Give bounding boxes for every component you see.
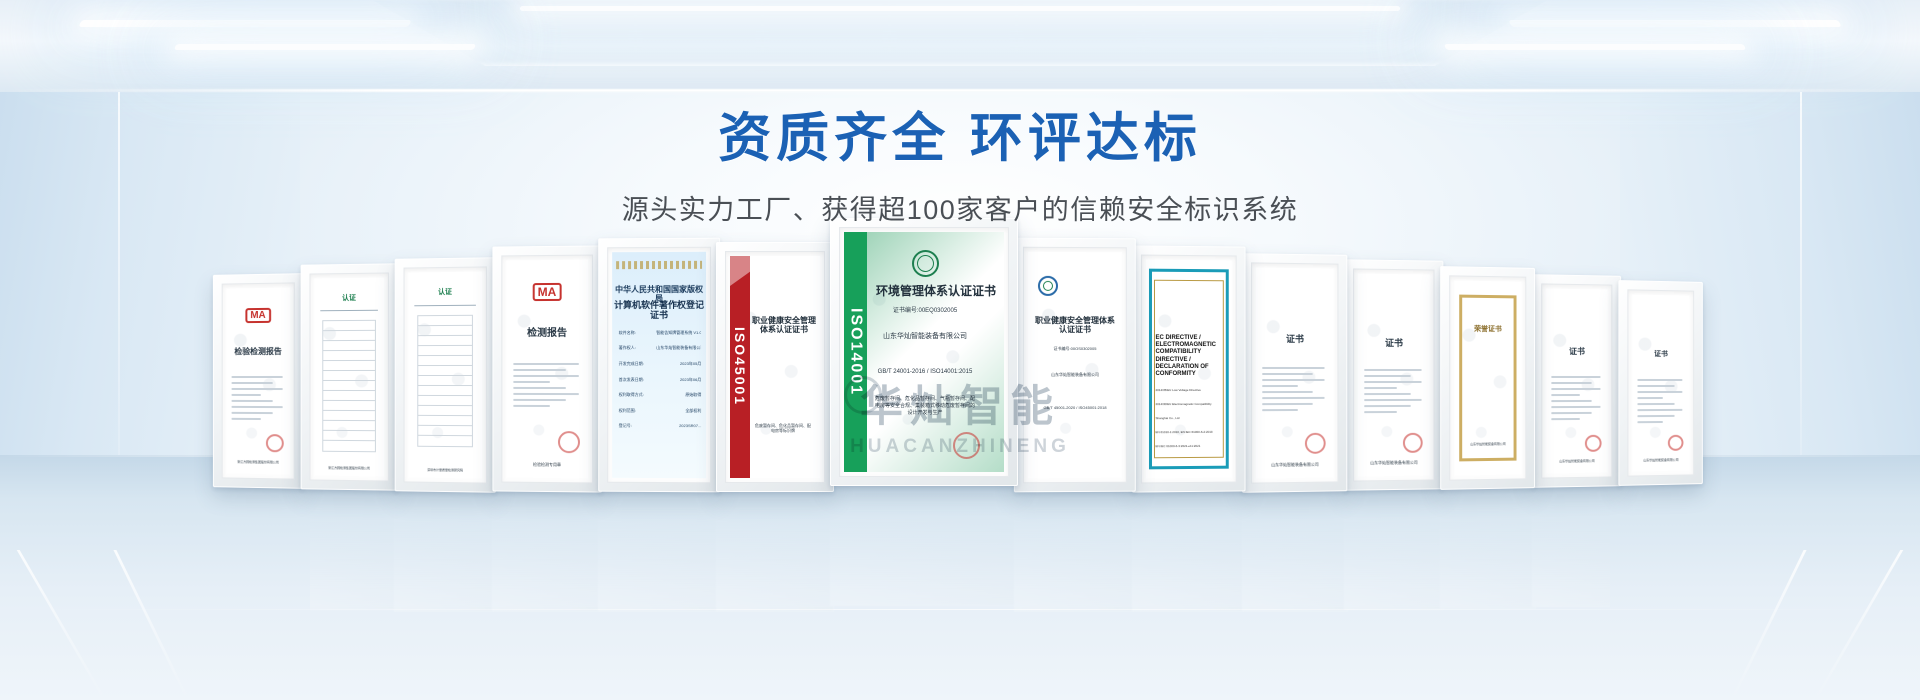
certificate-mat: MA检验检测报告浙江方圆检测集团股份有限公司 <box>222 282 295 479</box>
report-table-row <box>418 326 472 336</box>
body-line <box>513 387 567 389</box>
certificate-cert-no: 证书编号:00EQ0302005 <box>844 307 1004 315</box>
certificate-footer: 山东华灿智能装备有限公司 <box>1256 461 1333 467</box>
report-table-row <box>418 386 472 396</box>
certificate-paper: MA检测报告检验检测专用章 <box>506 260 588 479</box>
certificate-mat: 认证深圳市计量质量检测研究院 <box>404 266 487 483</box>
certificate-frame-honor-cert-4[interactable]: 证书山东华灿智能装备有限公司 <box>1618 280 1702 486</box>
body-line <box>1262 391 1313 393</box>
certificate-mat: 职业健康安全管理体系认证证书证书编号:00OS0302005山东华灿智能装备有限… <box>1023 247 1127 484</box>
certificate-frame-ce-emc-directive[interactable]: EC DIRECTIVE / ELECTROMAGNETIC COMPATIBI… <box>1132 245 1246 492</box>
floor-band <box>0 609 1920 610</box>
certificate-footer: 山东华灿智能装备有限公司 <box>1358 459 1430 465</box>
certificate-paper: ISO14001环境管理体系认证证书证书编号:00EQ0302005山东华灿智能… <box>844 232 1004 472</box>
certificate-company: 山东华灿智能装备有限公司 <box>844 332 1004 341</box>
body-line <box>1262 379 1325 381</box>
body-line <box>1364 375 1411 377</box>
certificate-mat: 中华人民共和国国家版权局计算机软件著作权登记证书软件名称:智能告知牌管理系统 V… <box>607 247 711 484</box>
certificate-body-lines <box>232 376 285 424</box>
body-line <box>1637 415 1674 417</box>
certificate-footer: 浙江方圆检测集团股份有限公司 <box>314 466 384 471</box>
report-table-row <box>324 371 375 381</box>
iso-side-band: ISO14001 <box>844 232 867 472</box>
accreditation-badge-icon: MA <box>245 308 270 323</box>
body-line <box>1262 403 1313 405</box>
report-table-row <box>418 366 472 376</box>
body-line <box>1637 385 1674 387</box>
red-seal-stamp <box>558 431 580 453</box>
certificate-frame-inspection-report-1[interactable]: 认证浙江方圆检测集团股份有限公司 <box>301 263 398 490</box>
certificate-paper: 证书山东华灿智能装备有限公司 <box>1632 294 1689 471</box>
certification-body-logo-icon <box>912 250 939 277</box>
certificate-title: 检测报告 <box>506 328 588 340</box>
certificate-mat: 荣誉证书山东华灿智能装备有限公司 <box>1449 275 1526 480</box>
certificate-mat: 证书山东华灿智能装备有限公司 <box>1251 262 1338 483</box>
certificate-body-lines <box>1551 376 1602 424</box>
certificate-field-value: 2023年06月 <box>680 377 701 383</box>
certificate-paper: MA检验检测报告浙江方圆检测集团股份有限公司 <box>227 287 290 474</box>
accreditation-badge-icon: MA <box>533 283 562 301</box>
report-table-row <box>324 421 375 431</box>
body-line <box>1551 418 1579 420</box>
certificate-frame-iso14001[interactable]: ISO14001环境管理体系认证证书证书编号:00EQ0302005山东华灿智能… <box>830 218 1018 486</box>
certificate-paper: 职业健康安全管理体系认证证书证书编号:00OS0302005山东华灿智能装备有限… <box>1028 252 1122 478</box>
certificate-body-lines <box>513 363 582 411</box>
certificate-field-value: 全部权利 <box>685 408 701 414</box>
certificate-field-value: 山东华灿智能装备有限公司 <box>656 345 701 351</box>
certificate-standard: GB/T 45001-2020 / ISO45001:2018 <box>1028 405 1122 411</box>
ornamental-border <box>616 261 702 269</box>
certificate-scope: 危废暂存间、危化品暂存间、气瓶暂存间、配电房等安全合规、集装箱式移动危废暂存间的… <box>844 396 1004 416</box>
certificate-company: 山东华灿智能装备有限公司 <box>1028 372 1122 377</box>
certificate-title: 环境管理体系认证证书 <box>844 285 1004 299</box>
certificate-field-value: 原始取得 <box>685 392 701 398</box>
header-divider <box>320 310 378 311</box>
report-table-row <box>324 351 375 361</box>
body-line <box>1551 388 1600 390</box>
certificate-footer: 山东华灿智能装备有限公司 <box>1546 459 1607 464</box>
certificate-title: 证书 <box>1546 347 1607 356</box>
report-table-row <box>324 411 375 421</box>
body-line <box>232 400 273 402</box>
body-line <box>232 382 273 384</box>
certification-body-logo-icon <box>1038 276 1058 296</box>
certificate-field-label: 权利取得方式: <box>619 392 644 398</box>
body-line <box>513 405 551 407</box>
report-table-row <box>324 441 375 451</box>
certificate-frame-cma-zhejiang[interactable]: MA检验检测报告浙江方圆检测集团股份有限公司 <box>213 273 304 489</box>
certificate-frame-honor-cert-1[interactable]: 证书山东华灿智能装备有限公司 <box>1242 253 1347 493</box>
certificate-gallery: MA检验检测报告浙江方圆检测集团股份有限公司认证浙江方圆检测集团股份有限公司认证… <box>310 232 1610 492</box>
certificate-standard: GB/T 24001-2016 / ISO14001:2015 <box>844 368 1004 376</box>
body-line <box>1551 394 1579 396</box>
certificate-title: 证书 <box>1358 338 1430 349</box>
certificate-frame-honor-cert-gold[interactable]: 荣誉证书山东华灿智能装备有限公司 <box>1440 266 1535 490</box>
certificate-mat: 证书山东华灿智能装备有限公司 <box>1353 268 1434 481</box>
certificate-title: EC DIRECTIVE / ELECTROMAGNETIC COMPATIBI… <box>1155 335 1222 378</box>
body-line <box>232 388 283 390</box>
certificate-paper: EC DIRECTIVE / ELECTROMAGNETIC COMPATIBI… <box>1146 260 1232 479</box>
iso-side-label: ISO45001 <box>732 327 748 406</box>
certificate-mat: ISO14001环境管理体系认证证书证书编号:00EQ0302005山东华灿智能… <box>839 227 1009 477</box>
body-line <box>1364 393 1411 395</box>
iso-side-label: ISO14001 <box>847 308 865 396</box>
banner-headings: 资质齐全 环评达标 源头实力工厂、获得超100家客户的信赖安全标识系统 <box>0 0 1920 227</box>
certificate-field-label: 权利范围: <box>619 408 636 414</box>
certificate-detail-line: Shanghai Co., Ltd <box>1155 416 1222 420</box>
body-line <box>1637 409 1683 411</box>
body-line <box>513 393 579 395</box>
certificate-frame-honor-cert-2[interactable]: 证书山东华灿智能装备有限公司 <box>1344 259 1443 490</box>
report-table-row <box>324 321 375 331</box>
certificate-field-label: 著作权人: <box>619 345 636 351</box>
body-line <box>1262 367 1325 369</box>
certificate-title: 职业健康安全管理体系认证证书 <box>730 316 820 334</box>
certificate-frame-inspection-report-2[interactable]: 认证深圳市计量质量检测研究院 <box>395 257 496 493</box>
certificate-scope: 危废暂存间、危化品暂存间、配电房等标识牌 <box>730 423 820 434</box>
report-table-row <box>418 336 472 346</box>
red-seal-stamp <box>1585 435 1602 452</box>
report-table-row <box>324 391 375 401</box>
body-line <box>513 399 567 401</box>
certificate-field-label: 软件名称: <box>619 330 636 336</box>
page-title: 资质齐全 环评达标 <box>0 96 1920 172</box>
body-line <box>1364 405 1411 407</box>
certificate-mat: MA检测报告检验检测专用章 <box>501 255 593 484</box>
report-table-row <box>418 436 472 446</box>
floor-light-ray-1 <box>17 550 107 700</box>
body-line <box>1262 397 1325 399</box>
body-line <box>232 406 283 408</box>
red-seal-stamp <box>953 432 980 459</box>
red-seal-stamp <box>266 434 284 452</box>
body-line <box>513 375 579 377</box>
body-line <box>1262 373 1313 375</box>
body-line <box>232 376 283 378</box>
report-table-row <box>324 431 375 441</box>
report-table-row <box>418 376 472 386</box>
report-table <box>323 320 376 452</box>
report-table-row <box>324 341 375 351</box>
body-line <box>1637 379 1683 381</box>
red-seal-stamp <box>1668 435 1684 451</box>
certificate-frame-iso45001-b[interactable]: 职业健康安全管理体系认证证书证书编号:00OS0302005山东华灿智能装备有限… <box>1014 238 1136 493</box>
certificate-paper: 荣誉证书山东华灿智能装备有限公司 <box>1454 280 1521 475</box>
body-line <box>1551 400 1591 402</box>
report-table-row <box>418 346 472 356</box>
certificate-mat: 认证浙江方圆检测集团股份有限公司 <box>309 272 388 481</box>
floor-light-ray-4 <box>1730 550 1806 700</box>
certificate-frame-cma-test-report[interactable]: MA检测报告检验检测专用章 <box>492 245 602 492</box>
report-table <box>417 315 473 447</box>
certificate-body-lines <box>1364 369 1424 417</box>
certificate-paper: 中华人民共和国国家版权局计算机软件著作权登记证书软件名称:智能告知牌管理系统 V… <box>612 252 706 478</box>
certificate-title: 职业健康安全管理体系认证证书 <box>1028 316 1122 335</box>
certificate-cert-no: 证书编号:00OS0302005 <box>1028 346 1122 351</box>
body-line <box>1364 369 1422 371</box>
page-subtitle: 源头实力工厂、获得超100家客户的信赖安全标识系统 <box>0 188 1920 227</box>
report-table-row <box>418 396 472 406</box>
accreditation-badge-icon: 认证 <box>342 293 356 303</box>
report-table-row <box>418 416 472 426</box>
body-line <box>1637 397 1663 399</box>
certificate-title: 计算机软件著作权登记证书 <box>612 300 706 321</box>
body-line <box>1637 421 1663 423</box>
report-table-row <box>324 401 375 411</box>
body-line <box>1551 376 1600 378</box>
certificate-frame-iso45001[interactable]: ISO45001职业健康安全管理体系认证证书危废暂存间、危化品暂存间、配电房等标… <box>716 242 834 492</box>
certificate-footer: 山东华灿智能装备有限公司 <box>1454 442 1521 447</box>
body-line <box>1364 381 1422 383</box>
report-table-row <box>418 356 472 366</box>
certificate-field-value: 2023年05月 <box>680 361 701 367</box>
header-divider <box>414 305 476 307</box>
red-seal-stamp <box>1305 433 1326 454</box>
report-table-row <box>418 406 472 416</box>
report-table-row <box>324 361 375 371</box>
certificate-paper: ISO45001职业健康安全管理体系认证证书危废暂存间、危化品暂存间、配电房等标… <box>730 256 820 478</box>
certificate-body-lines <box>1262 367 1327 415</box>
certificate-paper: 证书山东华灿智能装备有限公司 <box>1358 274 1430 477</box>
certificate-footer: 深圳市计量质量检测研究院 <box>408 468 482 473</box>
body-line <box>1551 382 1591 384</box>
body-line <box>1262 409 1298 411</box>
certificate-paper: 证书山东华灿智能装备有限公司 <box>1256 267 1333 478</box>
report-table-row <box>324 381 375 391</box>
certificate-mat: 证书山东华灿智能装备有限公司 <box>1627 289 1694 476</box>
body-line <box>513 363 579 365</box>
certificate-field-value: 2023SR07... <box>679 423 701 428</box>
body-line <box>1364 387 1397 389</box>
body-line <box>1637 391 1683 393</box>
certificate-detail-line: EN 61010-1:2010, EN IEC 61000-6-2:2019 <box>1155 430 1222 434</box>
report-table-row <box>418 426 472 436</box>
accreditation-badge-icon: 认证 <box>438 287 452 297</box>
certificate-footer: 浙江方圆检测集团股份有限公司 <box>227 460 290 465</box>
certificate-title: 荣誉证书 <box>1454 326 1521 335</box>
certificate-body-lines <box>1637 379 1685 427</box>
floor-light-ray-3 <box>1814 550 1904 700</box>
report-table-row <box>324 331 375 341</box>
certificate-paper: 证书山东华灿智能装备有限公司 <box>1546 289 1607 474</box>
certificate-field-label: 登记号: <box>619 423 632 429</box>
corner-accent <box>730 256 772 286</box>
body-line <box>513 381 551 383</box>
certificate-field-label: 首次发表日期: <box>619 377 644 383</box>
body-line <box>1364 411 1397 413</box>
body-line <box>1364 399 1422 401</box>
certificate-mat: ISO45001职业健康安全管理体系认证证书危废暂存间、危化品暂存间、配电房等标… <box>725 251 825 483</box>
body-line <box>1551 412 1591 414</box>
body-line <box>1637 403 1674 405</box>
certificate-paper: 认证深圳市计量质量检测研究院 <box>408 272 482 479</box>
certificate-paper: 认证浙江方圆检测集团股份有限公司 <box>314 278 384 477</box>
floor-light-ray-2 <box>113 550 189 700</box>
body-line <box>232 394 261 396</box>
body-line <box>513 369 567 371</box>
certificate-frame-software-copyright[interactable]: 中华人民共和国国家版权局计算机软件著作权登记证书软件名称:智能告知牌管理系统 V… <box>598 238 720 493</box>
certificate-title: 证书 <box>1256 334 1333 345</box>
gold-inner-frame <box>1459 294 1517 462</box>
body-line <box>1262 385 1298 387</box>
red-seal-stamp <box>1403 433 1423 453</box>
body-line <box>232 418 261 420</box>
certificate-field-label: 开发完成日期: <box>619 361 644 367</box>
certificate-field-value: 智能告知牌管理系统 V1.0 <box>656 330 701 336</box>
body-line <box>1551 406 1600 408</box>
certificate-title: 证书 <box>1632 351 1689 359</box>
certificate-detail-line: 2014/30/EU Electromagnetic Compatibility <box>1155 402 1222 406</box>
body-line <box>232 412 273 414</box>
iso-side-band: ISO45001 <box>730 256 750 478</box>
certificate-footer: 山东华灿智能装备有限公司 <box>1632 457 1689 462</box>
certificate-detail-line: EN IEC 61000-6-3:2021+A1:2021 <box>1155 444 1222 448</box>
certificate-detail-line: 2014/35/EU Low Voltage Directive <box>1155 388 1222 392</box>
certificate-frame-honor-cert-3[interactable]: 证书山东华灿智能装备有限公司 <box>1532 274 1621 488</box>
report-table-row <box>418 316 472 326</box>
certificate-footer: 检验检测专用章 <box>506 461 588 467</box>
certificate-title: 检验检测报告 <box>227 347 290 357</box>
certificate-mat: EC DIRECTIVE / ELECTROMAGNETIC COMPATIBI… <box>1141 255 1237 484</box>
certificate-mat: 证书山东华灿智能装备有限公司 <box>1541 283 1612 478</box>
